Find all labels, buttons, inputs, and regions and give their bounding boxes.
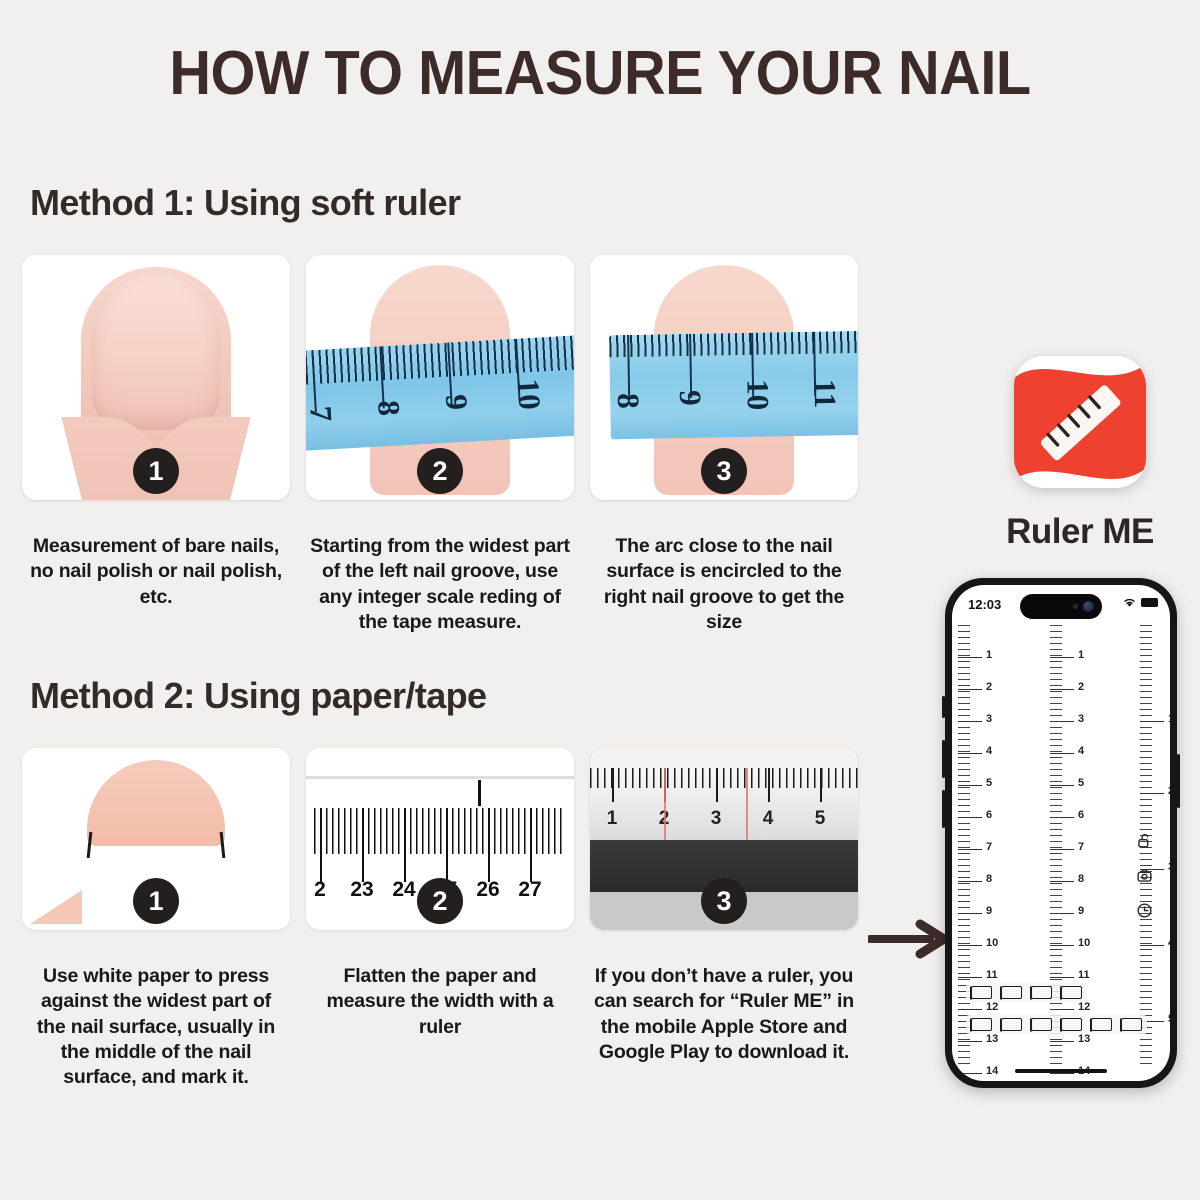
tape-number: 10 [510, 378, 548, 411]
step-caption: Use white paper to press against the wid… [22, 964, 290, 1091]
ruler-number: 5 [986, 777, 992, 789]
battery-icon [1141, 598, 1158, 607]
measure-chip[interactable] [1091, 1018, 1112, 1031]
ruler-number: 4 [1168, 937, 1170, 949]
method-2-heading: Method 2: Using paper/tape [30, 675, 486, 717]
measure-chip[interactable] [1061, 986, 1082, 999]
measure-chip[interactable] [1061, 1018, 1082, 1031]
method-1-step-3: 8 9 10 11 3 The arc close to the nail su… [590, 255, 858, 635]
phone-screen[interactable]: 12:03 1 2 3 4 5 6 7 8 9 10 11 [952, 585, 1170, 1081]
ruler-number: 10 [1078, 937, 1090, 949]
tape-measure: 7 8 9 10 [306, 335, 574, 451]
ruler-number: 11 [1078, 969, 1090, 981]
ruler-number: 2 [314, 878, 326, 902]
ruler-number: 2 [1168, 785, 1170, 797]
page-title: HOW TO MEASURE YOUR NAIL [42, 38, 1158, 109]
table-surface [590, 748, 858, 768]
unlock-icon[interactable] [1135, 831, 1154, 850]
tape-number: 9 [438, 393, 475, 410]
nail-on-paper-photo: 1 [22, 748, 290, 930]
ruler-number: 8 [986, 873, 992, 885]
ruler-number: 1 [1078, 649, 1084, 661]
ruler-number: 3 [1078, 713, 1084, 725]
ruler-number: 26 [476, 878, 499, 902]
ruler-number: 3 [1168, 861, 1170, 873]
paper-ruler-photo: 2 23 24 25 26 27 2 [306, 748, 574, 930]
ruler-number: 5 [1078, 777, 1084, 789]
ruler-app-icon[interactable] [1006, 348, 1154, 496]
mute-switch[interactable] [942, 696, 945, 718]
arrow-right-icon [868, 918, 954, 960]
step-caption: The arc close to the nail surface is enc… [590, 534, 858, 635]
tape-measure-photo-straight: 7 8 9 10 2 [306, 255, 574, 500]
ruler-number: 2 [986, 681, 992, 693]
method-2-step-1: 1 Use white paper to press against the w… [22, 748, 290, 1091]
paper-corner [30, 890, 82, 924]
ruler-number: 1 [607, 808, 618, 830]
paper-mark [478, 780, 481, 806]
ruler-number: 4 [763, 808, 774, 830]
sensor-dot [1073, 604, 1078, 609]
tape-number: 7 [306, 405, 339, 422]
ruler-number: 23 [350, 878, 373, 902]
ruler-number: 3 [711, 808, 722, 830]
measure-chip[interactable] [1001, 1018, 1022, 1031]
wifi-icon [1122, 597, 1137, 608]
ruler-number: 3 [986, 713, 992, 725]
nail-illustration [92, 275, 220, 430]
tape-number: 8 [610, 393, 646, 409]
volume-up-button[interactable] [942, 740, 945, 778]
ruler-number: 12 [1078, 1001, 1090, 1013]
tape-number: 9 [672, 390, 708, 406]
ruler-number: 6 [986, 809, 992, 821]
tape-number: 11 [807, 379, 844, 409]
measure-chip[interactable] [971, 986, 992, 999]
phone-mockup: 12:03 1 2 3 4 5 6 7 8 9 10 11 [945, 578, 1177, 1088]
step-caption: Starting from the widest part of the lef… [306, 534, 574, 635]
step-badge: 2 [417, 448, 463, 494]
step-badge: 3 [701, 878, 747, 924]
ruler-number: 9 [1078, 905, 1084, 917]
power-button[interactable] [1177, 754, 1180, 808]
paper-edge [306, 776, 574, 779]
volume-down-button[interactable] [942, 790, 945, 828]
tool-icons [1135, 831, 1154, 920]
ruler-number: 4 [986, 745, 992, 757]
plastic-ruler: 1 2 3 4 5 [590, 768, 858, 840]
ruler-number: 10 [986, 937, 998, 949]
timer-icon[interactable] [1135, 901, 1154, 920]
method-2-step-3: 1 2 3 4 5 3 If you don’t have a ruler, y… [590, 748, 858, 1065]
measure-chip[interactable] [971, 1018, 992, 1031]
ruler-number: 11 [986, 969, 998, 981]
ruler-number: 9 [986, 905, 992, 917]
step-caption: Flatten the paper and measure the width … [306, 964, 574, 1040]
measure-chip[interactable] [1121, 1018, 1142, 1031]
ruler-number: 12 [986, 1001, 998, 1013]
measure-widget-row-2[interactable] [966, 1015, 1147, 1034]
tape-number: 8 [370, 399, 407, 416]
ruler-number: 7 [986, 841, 992, 853]
status-bar-indicators [1122, 597, 1158, 608]
ruler-number: 13 [986, 1033, 998, 1045]
measure-widget-row-1[interactable] [966, 983, 1087, 1002]
measure-chip[interactable] [1001, 986, 1022, 999]
ruler-number: 1 [986, 649, 992, 661]
ruler-number: 13 [1078, 1033, 1090, 1045]
method-1-step-2: 7 8 9 10 2 Starting from the widest part… [306, 255, 574, 635]
step-caption: If you don’t have a ruler, you can searc… [590, 964, 858, 1065]
tape-measure-photo-wrapped: 8 9 10 11 3 [590, 255, 858, 500]
ruler-number: 6 [1078, 809, 1084, 821]
method-1-step-1: 1 Measurement of bare nails, no nail pol… [22, 255, 290, 610]
ruler-minor-ticks [590, 768, 858, 788]
measure-chip[interactable] [1031, 1018, 1052, 1031]
ruler-number: 14 [986, 1065, 998, 1077]
method-2-step-2: 2 23 24 25 26 27 2 Flatten the paper and… [306, 748, 574, 1040]
home-indicator[interactable] [1015, 1069, 1107, 1073]
app-name: Ruler ME [985, 512, 1175, 552]
bare-nail-photo: 1 [22, 255, 290, 500]
tape-number: 10 [739, 379, 776, 411]
step-badge: 1 [133, 448, 179, 494]
ruler-number: 5 [1168, 1013, 1170, 1025]
app-promo: Ruler ME [985, 348, 1175, 552]
ruler-number: 7 [1078, 841, 1084, 853]
ruler-number: 1 [1168, 713, 1170, 725]
ruler-number: 4 [1078, 745, 1084, 757]
ruler-number: 8 [1078, 873, 1084, 885]
desk-ruler-photo: 1 2 3 4 5 3 [590, 748, 858, 930]
status-bar-time: 12:03 [968, 597, 1001, 612]
ruler-number: 27 [518, 878, 541, 902]
step-caption: Measurement of bare nails, no nail polis… [22, 534, 290, 610]
ruler-number: 5 [815, 808, 826, 830]
ruler-number: 2 [1078, 681, 1084, 693]
method-1-heading: Method 1: Using soft ruler [30, 182, 460, 224]
tape-measure: 8 9 10 11 [609, 331, 858, 440]
ruler-number: 24 [392, 878, 415, 902]
camera-icon[interactable] [1135, 866, 1154, 885]
step-badge: 2 [417, 878, 463, 924]
step-badge: 1 [133, 878, 179, 924]
step-badge: 3 [701, 448, 747, 494]
front-camera-icon [1083, 601, 1094, 612]
ruler-major-ticks [314, 808, 566, 882]
dynamic-island [1020, 594, 1102, 619]
measure-chip[interactable] [1031, 986, 1052, 999]
